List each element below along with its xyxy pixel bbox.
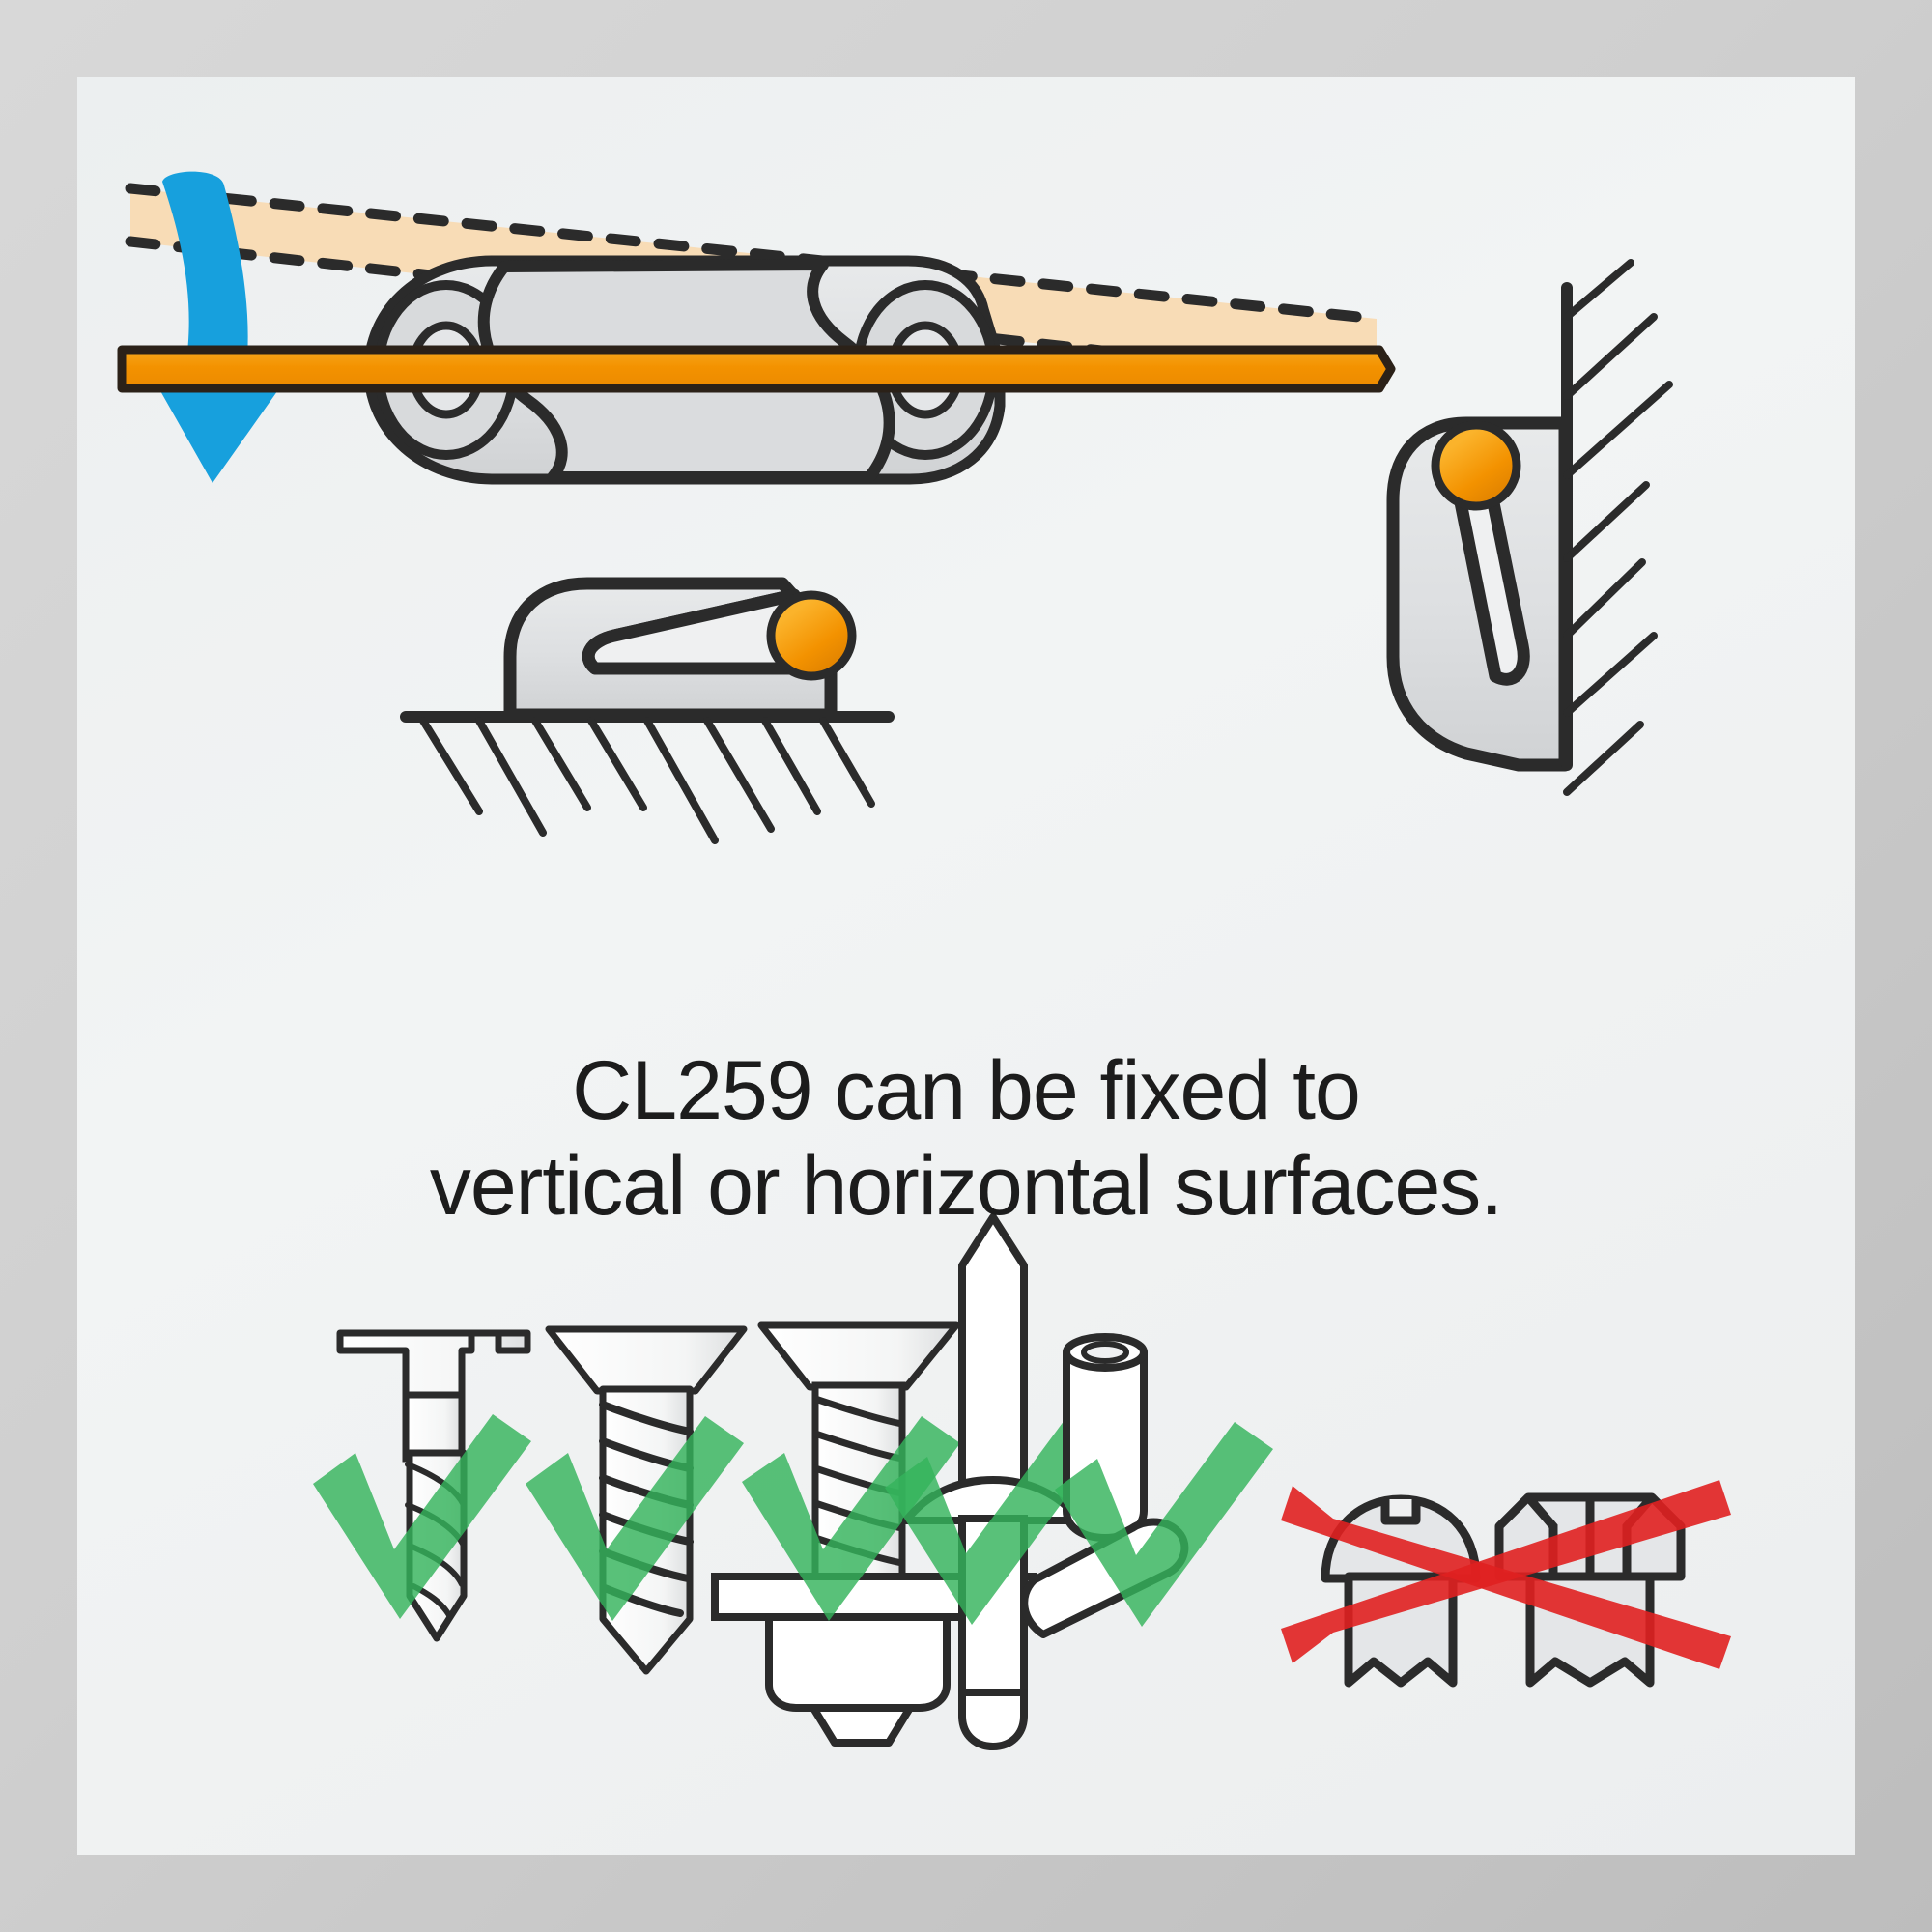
- fastener-legend: [313, 1217, 1731, 1747]
- illustration-sheet: CL259 can be fixed to vertical or horizo…: [77, 77, 1855, 1855]
- fastener-countersunk-wood-screw: [313, 1333, 531, 1638]
- vertical-mount-diagram: [1393, 263, 1669, 792]
- rope-cross-section-vertical: [1435, 425, 1517, 506]
- rope-cross-section-horizontal: [771, 595, 852, 676]
- top-lock-diagram: [122, 172, 1391, 483]
- fasteners-rejected: [1281, 1480, 1731, 1683]
- mounting-surface-vertical: [1567, 263, 1669, 792]
- illustration-page: CL259 can be fixed to vertical or horizo…: [0, 0, 1932, 1932]
- horizontal-mount-diagram: [406, 583, 889, 840]
- mounting-surface-horizontal: [406, 717, 889, 840]
- caption-line-1: CL259 can be fixed to: [77, 1043, 1855, 1139]
- rope-seated: [122, 350, 1391, 388]
- caption-line-2: vertical or horizontal surfaces.: [77, 1139, 1855, 1235]
- fastener-rivet-nut-insert: [1024, 1337, 1273, 1634]
- caption-block: CL259 can be fixed to vertical or horizo…: [77, 1043, 1855, 1235]
- technical-illustration: [77, 77, 1855, 1855]
